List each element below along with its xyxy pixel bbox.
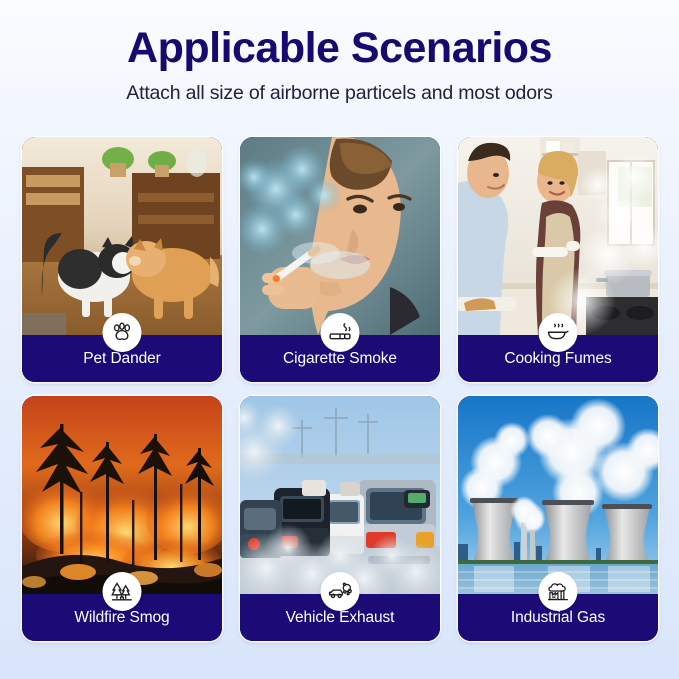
photo-cat-and-dog-in-living-room — [22, 137, 222, 335]
steaming-pan-icon — [539, 313, 578, 352]
scenario-card-pet-dander[interactable]: Pet Dander — [22, 137, 222, 382]
scenario-card-vehicle-exhaust[interactable]: Vehicle Exhaust — [240, 396, 440, 641]
car-exhaust-icon — [321, 572, 360, 611]
photo-traffic-jam-with-exhaust — [240, 396, 440, 594]
photo-man-smoking-cigarette — [240, 137, 440, 335]
factory-smokestack-icon — [539, 572, 578, 611]
scenario-card-cooking-fumes[interactable]: Cooking Fumes — [458, 137, 658, 382]
photo-couple-cooking-in-kitchen — [458, 137, 658, 335]
paw-print-icon — [103, 313, 142, 352]
header: Applicable Scenarios Attach all size of … — [0, 0, 679, 105]
burning-trees-icon — [103, 572, 142, 611]
page-title: Applicable Scenarios — [0, 24, 679, 72]
page-subtitle: Attach all size of airborne particels an… — [0, 82, 679, 105]
scenario-card-industrial-gas[interactable]: Industrial Gas — [458, 396, 658, 641]
photo-cooling-towers-emitting-steam — [458, 396, 658, 594]
scenario-card-cigarette-smoke[interactable]: Cigarette Smoke — [240, 137, 440, 382]
photo-forest-wildfire — [22, 396, 222, 594]
scenario-card-wildfire-smog[interactable]: Wildfire Smog — [22, 396, 222, 641]
scenario-card-grid: Pet Dander — [22, 137, 658, 641]
cigarette-icon — [321, 313, 360, 352]
